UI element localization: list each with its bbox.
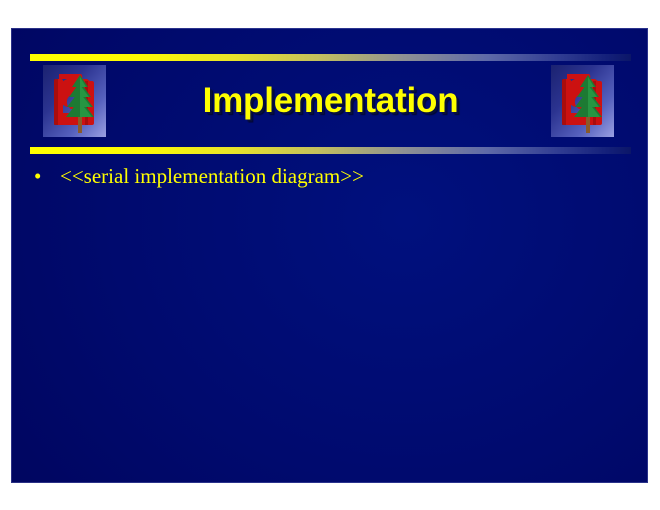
stanford-tree-logo-icon — [551, 65, 614, 137]
slide-body: • <<serial implementation diagram>> — [30, 164, 631, 188]
title-rule-bottom — [30, 147, 631, 154]
slide-title-band: Implementation — [30, 54, 631, 154]
bullet-text: <<serial implementation diagram>> — [60, 164, 364, 188]
bullet-item: • <<serial implementation diagram>> — [30, 164, 631, 188]
stanford-tree-logo-right — [551, 65, 614, 137]
presentation-slide: Implementation — [11, 28, 648, 483]
title-rule-top — [30, 54, 631, 61]
stanford-tree-logo-left — [43, 65, 106, 137]
slide-title: Implementation — [120, 66, 541, 136]
stanford-tree-logo-icon — [43, 65, 106, 137]
slide-page: Implementation — [0, 0, 660, 510]
bullet-marker-icon: • — [30, 166, 60, 187]
